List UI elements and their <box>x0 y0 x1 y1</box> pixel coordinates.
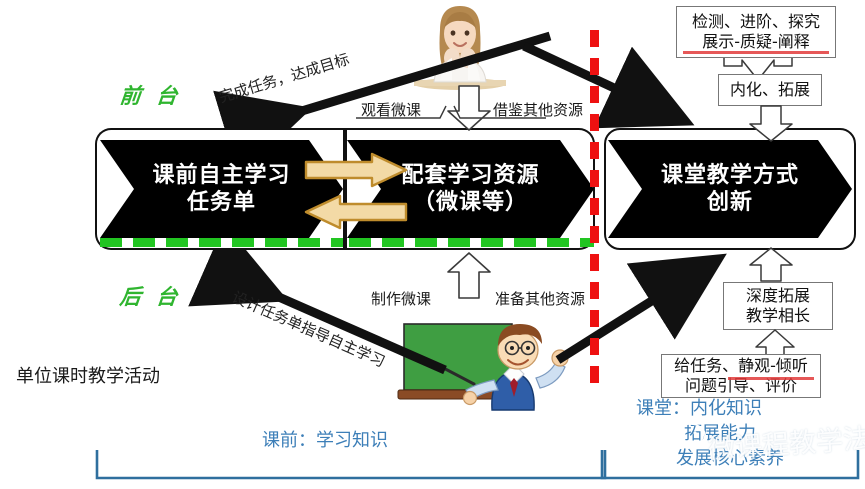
watermark-logo-icon <box>672 422 708 448</box>
green-rail-mid <box>349 238 594 247</box>
green-rail-left <box>100 238 343 247</box>
make-microlesson-up-arrow <box>446 252 492 300</box>
back-stage-label: 后 台 <box>118 281 182 311</box>
flipped-classroom-diagram: 前 台 后 台 <box>0 0 865 489</box>
prepare-other-resources-label: 准备其他资源 <box>495 288 585 309</box>
gold-exchange-arrows <box>302 152 410 230</box>
notebox-3-line1: 深度拓展 <box>746 286 810 306</box>
banner-teaching-innovation: 课堂教学方式 创新 <box>608 140 852 238</box>
notebox-1-line1: 检测、进阶、探究 <box>692 12 820 32</box>
banner-1-line2: 任务单 <box>152 189 290 216</box>
notebox-4-underline <box>728 377 814 380</box>
make-microlesson-label: 制作微课 <box>371 288 431 309</box>
class-boundary-divider <box>590 30 599 388</box>
notebox-1-line2: 展示-质疑-阐释 <box>702 32 810 52</box>
notebox-2-to-banner-arrow <box>748 106 794 142</box>
before-class-bracket <box>95 448 607 484</box>
in-class-summary-line1: 课堂：内化知识 <box>636 396 762 422</box>
banner-2-line1: 配套学习资源 <box>401 162 539 189</box>
notebox-3-to-banner-arrow <box>748 248 794 282</box>
notebox-3-line2: 教学相长 <box>746 306 810 326</box>
notebox-2-line1: 内化、拓展 <box>730 80 810 100</box>
design-task-sheet-arrow <box>205 262 455 377</box>
notebox-4-line1: 给任务、静观-倾听 <box>674 356 808 376</box>
banner-1-line1: 课前自主学习 <box>152 162 290 189</box>
down-arrow-leader-lines <box>356 96 546 126</box>
front-stage-label: 前 台 <box>118 80 182 110</box>
in-class-bracket <box>600 448 862 484</box>
notebox-deep-expansion: 深度拓展 教学相长 <box>723 282 833 330</box>
banner-3-line1: 课堂教学方式 <box>661 162 799 189</box>
notebox-4-to-3-arrow <box>752 330 798 356</box>
unit-lesson-activity-title: 单位课时教学活动 <box>16 362 160 388</box>
notebox-internalize-expand: 内化、拓展 <box>718 74 822 106</box>
banner-2-line2: （微课等） <box>401 189 539 216</box>
class-innovation-arrow <box>552 256 732 366</box>
banner-3-line2: 创新 <box>661 189 799 216</box>
notebox-1-underline <box>683 51 829 54</box>
notebox-give-task-observe: 给任务、静观-倾听 问题引导、评价 <box>661 354 821 398</box>
